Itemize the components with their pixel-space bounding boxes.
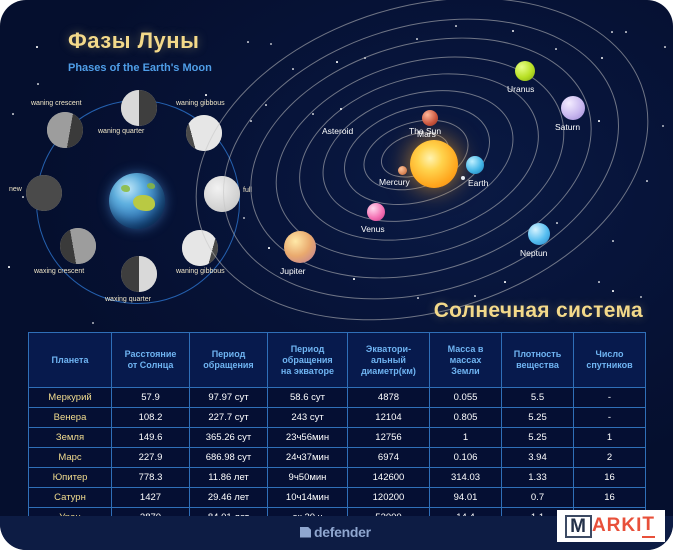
header-line: альный <box>350 355 427 366</box>
table-cell: 94.01 <box>430 488 502 508</box>
star <box>625 31 627 33</box>
star <box>247 41 249 43</box>
table-row: Юпитер778.311.86 лет9ч50мин142600314.031… <box>29 468 646 488</box>
moon-of-earth <box>461 176 465 180</box>
watermark-underlined-letter: T <box>642 514 655 538</box>
planet-mercury <box>398 166 407 175</box>
table-cell: 4878 <box>348 388 430 408</box>
label-venus: Venus <box>361 224 385 234</box>
table-cell: 10ч14мин <box>268 488 348 508</box>
header-line: от Солнца <box>114 360 187 371</box>
star <box>36 46 38 48</box>
table-row: Марс227.9686.98 сут24ч37мин69740.1063.94… <box>29 448 646 468</box>
header-line: Период <box>192 349 265 360</box>
header-line: диаметр(км) <box>350 366 427 377</box>
table-cell: 227.7 сут <box>190 408 268 428</box>
table-cell: 778.3 <box>112 468 190 488</box>
table-cell-planet-name: Юпитер <box>29 468 112 488</box>
planet-neptun <box>528 223 550 245</box>
table-cell: 0.055 <box>430 388 502 408</box>
table-cell-planet-name: Земля <box>29 428 112 448</box>
table-header-cell-3: Периодобращенияна экваторе <box>268 333 348 388</box>
table-cell: 1 <box>430 428 502 448</box>
header-line: Число <box>576 349 643 360</box>
table-cell: 9ч50мин <box>268 468 348 488</box>
table-header-cell-2: Периодобращения <box>190 333 268 388</box>
moon-label-waxing-quarter: waxing quarter <box>105 296 151 303</box>
label-earth: Earth <box>468 178 488 188</box>
moon-phase-waxing-crescent <box>60 228 96 264</box>
header-line: на экваторе <box>270 366 345 377</box>
watermark-middle-text: ARKI <box>592 515 642 537</box>
table-cell-planet-name: Марс <box>29 448 112 468</box>
table-header-cell-6: Плотностьвещества <box>502 333 574 388</box>
header-line: Период <box>270 344 345 355</box>
planet-jupiter <box>284 231 316 263</box>
watermark-markit: M ARKI T <box>557 510 665 542</box>
table-cell: 5.25 <box>502 428 574 448</box>
label-neptun: Neptun <box>520 248 547 258</box>
table-header-cell-1: Расстояниеот Солнца <box>112 333 190 388</box>
moon-label-waning-gibbous: waning gibbous <box>176 100 225 107</box>
table-cell: 1.33 <box>502 468 574 488</box>
star <box>37 83 39 85</box>
planet-saturn <box>561 96 585 120</box>
table-header-cell-4: Экватори-альныйдиаметр(км) <box>348 333 430 388</box>
defender-logo: defender <box>300 524 371 540</box>
table-cell: 0.7 <box>502 488 574 508</box>
header-line: обращения <box>270 355 345 366</box>
header-line: массах <box>432 355 499 366</box>
table-cell: 12756 <box>348 428 430 448</box>
star <box>270 43 272 45</box>
table-cell: 0.805 <box>430 408 502 428</box>
table-cell: 227.9 <box>112 448 190 468</box>
table-row: Земля149.6365.26 сут23ч56мин1275615.251 <box>29 428 646 448</box>
header-line: Плотность <box>504 349 571 360</box>
table-cell: 686.98 сут <box>190 448 268 468</box>
moon-phase-waning-crescent <box>47 112 83 148</box>
table-cell: 120200 <box>348 488 430 508</box>
table-cell: 314.03 <box>430 468 502 488</box>
table-cell-planet-name: Меркурий <box>29 388 112 408</box>
table-cell: 142600 <box>348 468 430 488</box>
table-cell: 243 сут <box>268 408 348 428</box>
table-cell: 3.94 <box>502 448 574 468</box>
planet-venus <box>367 203 385 221</box>
header-line: Масса в <box>432 344 499 355</box>
star <box>611 31 613 33</box>
star <box>92 322 94 324</box>
label-asteroid: Asteroid <box>322 126 353 136</box>
label-mercury: Mercury <box>379 177 410 187</box>
moon-phase-waxing-quarter <box>121 256 157 292</box>
label-saturn: Saturn <box>555 122 580 132</box>
header-line: Расстояние <box>114 349 187 360</box>
table-cell: 57.9 <box>112 388 190 408</box>
table-cell: 5.25 <box>502 408 574 428</box>
poster-root: Фазы Луны Phases of the Earth's Moon wan… <box>0 0 673 550</box>
table-cell: 108.2 <box>112 408 190 428</box>
table-cell: 23ч56мин <box>268 428 348 448</box>
subtitle-moon: Phases of the Earth's Moon <box>68 62 212 74</box>
solar-system-diagram: The Sun Asteroid Mercury Venus Earth Mar… <box>258 48 670 310</box>
table-cell-planet-name: Сатурн <box>29 488 112 508</box>
table-cell: 1 <box>574 428 646 448</box>
table-header-cell-5: Масса вмассахЗемли <box>430 333 502 388</box>
table-cell: 16 <box>574 468 646 488</box>
table-cell: 1427 <box>112 488 190 508</box>
table-row: Венера108.2227.7 сут243 сут121040.8055.2… <box>29 408 646 428</box>
table-cell: 29.46 лет <box>190 488 268 508</box>
page-title-solar: Солнечная система <box>434 299 643 323</box>
watermark-boxed-letter: M <box>565 515 592 538</box>
header-line: Земли <box>432 366 499 377</box>
table-cell: 11.86 лет <box>190 468 268 488</box>
table-header: ПланетаРасстояниеот СолнцаПериодобращени… <box>29 333 646 388</box>
table-cell: 5.5 <box>502 388 574 408</box>
planet-the-sun <box>410 140 458 188</box>
table-row: Меркурий57.997.97 сут58.6 сут48780.0555.… <box>29 388 646 408</box>
table-cell: 16 <box>574 488 646 508</box>
earth-globe-icon <box>109 173 165 229</box>
page-title-moon: Фазы Луны <box>68 28 199 54</box>
table-cell: 0.106 <box>430 448 502 468</box>
table-cell: - <box>574 388 646 408</box>
planet-earth <box>466 156 484 174</box>
table-cell: 12104 <box>348 408 430 428</box>
table-cell: 97.97 сут <box>190 388 268 408</box>
table-header-row: ПланетаРасстояниеот СолнцаПериодобращени… <box>29 333 646 388</box>
moon-label-waning-gibbous-2: waning gibbous <box>176 268 225 275</box>
moon-phase-new <box>26 175 62 211</box>
moon-label-waning-quarter: waning quarter <box>98 128 144 135</box>
header-line: Планета <box>31 355 109 366</box>
moon-label-waxing-crescent: waxing crescent <box>34 268 84 275</box>
table-cell: 149.6 <box>112 428 190 448</box>
planet-mars <box>422 110 438 126</box>
table-cell: 58.6 сут <box>268 388 348 408</box>
table-header-cell-0: Планета <box>29 333 112 388</box>
header-line: обращения <box>192 360 265 371</box>
defender-mark-icon <box>300 527 311 538</box>
label-uranus: Uranus <box>507 84 534 94</box>
table-cell-planet-name: Венера <box>29 408 112 428</box>
planet-uranus <box>515 61 535 81</box>
label-mars: Mars <box>417 129 436 139</box>
moon-label-new: new <box>9 186 22 193</box>
table-cell: - <box>574 408 646 428</box>
header-line: Экватори- <box>350 344 427 355</box>
table-header-cell-7: Числоспутников <box>574 333 646 388</box>
table-cell: 365.26 сут <box>190 428 268 448</box>
label-jupiter: Jupiter <box>280 266 306 276</box>
header-line: вещества <box>504 360 571 371</box>
table-cell: 2 <box>574 448 646 468</box>
moon-label-waning-crescent: waning crescent <box>31 100 82 107</box>
header-line: спутников <box>576 360 643 371</box>
table-cell: 6974 <box>348 448 430 468</box>
table-cell: 24ч37мин <box>268 448 348 468</box>
defender-brand-text: defender <box>314 524 371 540</box>
table-row: Сатурн142729.46 лет10ч14мин12020094.010.… <box>29 488 646 508</box>
moon-phase-waning-quarter <box>121 90 157 126</box>
